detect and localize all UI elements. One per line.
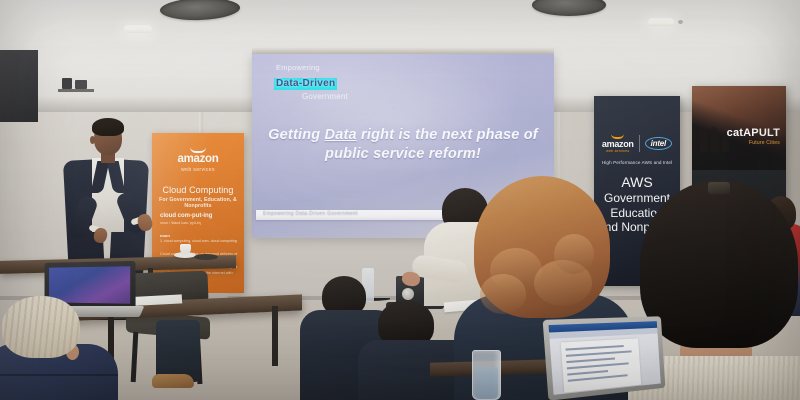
logo-divider	[639, 135, 640, 152]
wall-shelf	[58, 70, 94, 92]
catapult-word-a: cat	[727, 127, 744, 139]
shelf-board	[58, 89, 94, 92]
front-table-leg	[272, 306, 278, 366]
laptop-screen	[549, 321, 661, 395]
ceiling-light-icon	[648, 18, 674, 26]
puffer-seam	[0, 374, 118, 376]
slide-main-text: Getting Data right is the next phase of …	[266, 126, 540, 163]
ceiling-light-icon	[124, 25, 152, 33]
shelf-box	[75, 80, 87, 89]
slide-text-part2: right is the next phase of public servic…	[325, 127, 538, 162]
audience-member-knit-hat	[0, 296, 114, 400]
slide-header-highlight: Data-Driven	[274, 78, 337, 90]
knit-hat-texture	[2, 296, 80, 358]
dark-plate	[194, 254, 218, 260]
hair-wave	[554, 234, 594, 274]
banner-definition-heading: cloud com-put-ing	[160, 213, 238, 219]
hair-wave	[480, 274, 526, 314]
banner-logo-row: amazon web services intel	[594, 134, 680, 153]
catapult-word-b: APULT	[743, 127, 780, 139]
wall-dark-panel	[0, 50, 38, 122]
laptop-lid	[543, 316, 666, 400]
banner-definition-pronunciation-2: 1. cloud computing, cloud com- cloud com…	[160, 239, 238, 244]
slide-header: Empowering Data-Driven Government	[272, 64, 422, 101]
catapult-logo: catAPULT Future Cities	[727, 128, 780, 146]
laptop-document	[561, 338, 641, 392]
banner-definition-pronunciation: noun \ 'klaud kəm-'pyü-tiŋ	[160, 221, 238, 226]
catapult-wordmark: catAPULT	[727, 128, 780, 139]
smoke-detector-icon	[678, 20, 683, 24]
aws-logo: amazon web services	[602, 134, 634, 153]
presentation-photo: Empowering Data-Driven Government Gettin…	[0, 0, 800, 400]
slide-taskbar-text: Empowering Data-Driven Government	[263, 211, 358, 217]
intel-logo: intel	[645, 137, 672, 150]
aws-logo: amazon web services	[152, 147, 244, 173]
slide-header-line1: Empowering	[272, 64, 422, 73]
av-dial	[402, 288, 414, 300]
aws-sublabel: web services	[152, 167, 244, 173]
amazon-wordmark: amazon	[602, 140, 634, 149]
shelf-box	[62, 78, 72, 89]
amazon-wordmark: amazon	[152, 154, 244, 166]
shoe	[152, 374, 194, 388]
hair-clip-icon	[708, 182, 730, 194]
aws-sublabel: web services	[602, 149, 634, 153]
catapult-sublabel: Future Cities	[727, 140, 780, 146]
slide-header-line3: Government	[272, 92, 422, 101]
coffee-cup	[180, 244, 191, 254]
presenter-ear	[90, 136, 95, 144]
banner-subtitle: For Government, Education, & Nonprofits	[152, 197, 244, 209]
presenter-hair	[92, 118, 124, 136]
banner-definition-heading-2: noun	[160, 233, 238, 238]
water-glass	[472, 350, 501, 400]
banner-tagline: High Performance AWS and Intel	[594, 160, 680, 165]
laptop-document-editor[interactable]	[548, 318, 676, 400]
audience-legs	[156, 320, 200, 382]
banner-title: Cloud Computing	[152, 185, 244, 195]
slide-text-emphasis: Data	[325, 127, 357, 143]
banner-photo-figure	[711, 127, 718, 152]
banner-photo-figure	[700, 130, 707, 152]
chair-leg	[131, 332, 139, 382]
slide-text-part1: Getting	[268, 127, 324, 143]
water-level	[475, 367, 498, 399]
